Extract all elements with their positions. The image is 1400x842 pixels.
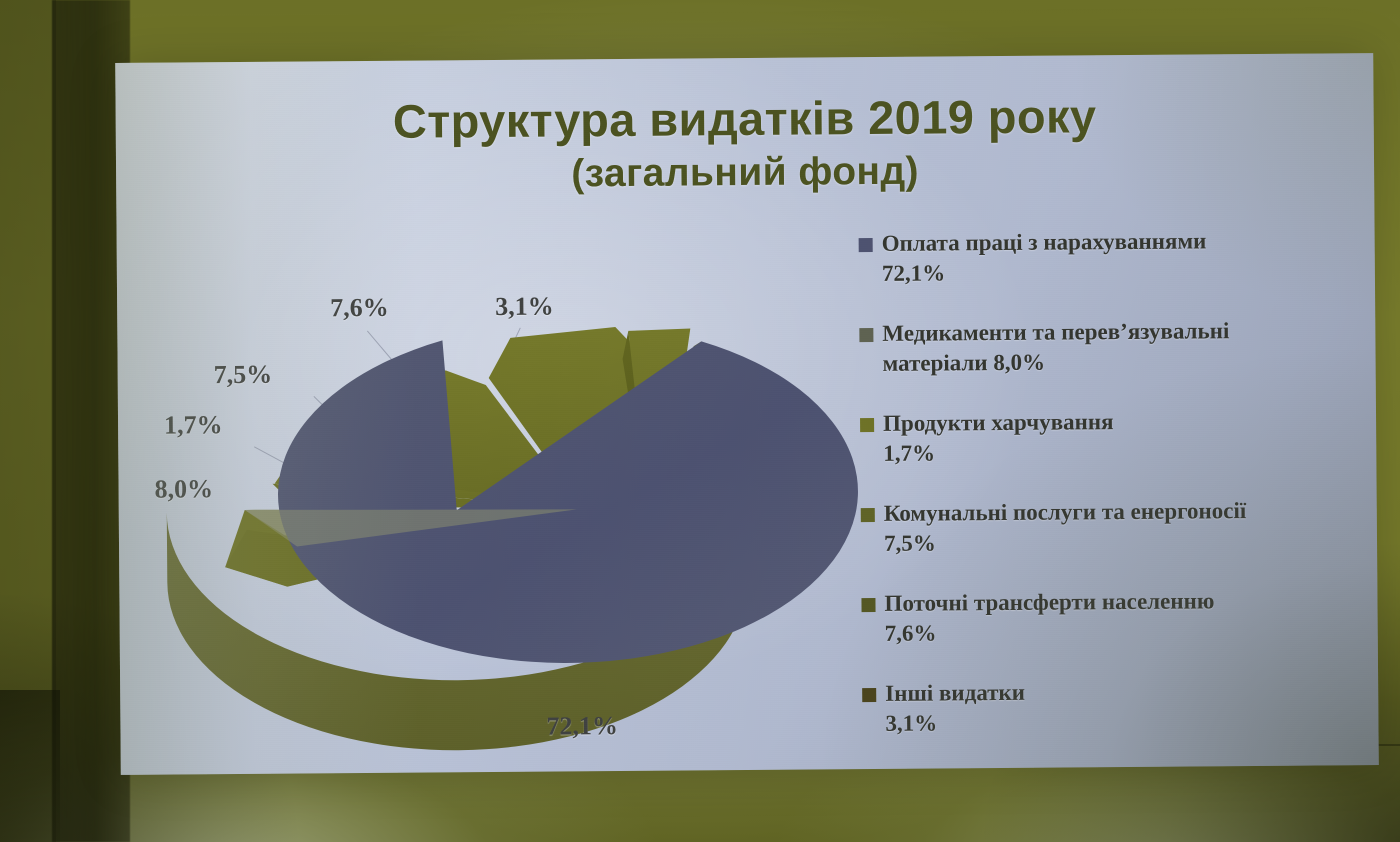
legend-label-transfers: Поточні трансферти населенню [884,586,1214,619]
data-label-utilities: 7,5% [214,360,273,390]
data-label-transfers: 7,6% [330,293,389,323]
legend-value-salary: 72,1% [882,255,1329,289]
data-label-medicine: 8,0% [154,474,213,504]
legend-swatch-icon-other [862,688,876,702]
legend-label-medicine: Медикаменти та перев’язувальні [882,316,1229,349]
legend-label-other: Інші видатки [885,678,1025,709]
legend-item-transfers[interactable]: Поточні трансферти населенню 7,6% [861,585,1331,649]
legend-item-other[interactable]: Інші видатки 3,1% [862,675,1332,739]
data-label-salary: 72,1% [546,711,618,742]
data-label-other: 3,1% [495,292,554,322]
legend-item-food[interactable]: Продукти харчування 1,7% [860,405,1330,469]
legend-item-salary[interactable]: Оплата праці з нарахуваннями 72,1% [859,225,1329,289]
legend-swatch-icon-transfers [861,598,875,612]
legend-label-food: Продукти харчування [883,407,1114,439]
data-label-food: 1,7% [164,410,223,440]
legend-swatch-icon-food [860,418,874,432]
legend-label-utilities: Комунальні послуги та енергоносії [884,496,1247,529]
pie-chart-svg [144,207,888,758]
legend-value-other: 3,1% [885,705,1332,739]
legend-label-salary: Оплата праці з нарахуваннями [882,226,1207,259]
legend-swatch-icon-salary [859,238,873,252]
legend-item-utilities[interactable]: Комунальні послуги та енергоносії 7,5% [861,495,1331,559]
legend-swatch-icon-medicine [859,328,873,342]
chart-legend: Оплата праці з нарахуваннями 72,1% Медик… [859,225,1333,769]
pie-chart: 7,6% 3,1% 7,5% 1,7% 8,0% 72,1% [144,207,888,758]
projected-slide: Структура видатків 2019 року (загальний … [115,53,1379,775]
legend-item-medicine[interactable]: Медикаменти та перев’язувальні матеріали… [859,315,1329,379]
legend-value-food: 1,7% [883,435,1330,469]
legend-swatch-icon-utilities [861,508,875,522]
legend-value-transfers: 7,6% [885,615,1332,649]
legend-value-medicine: матеріали 8,0% [882,345,1329,379]
legend-value-utilities: 7,5% [884,525,1331,559]
